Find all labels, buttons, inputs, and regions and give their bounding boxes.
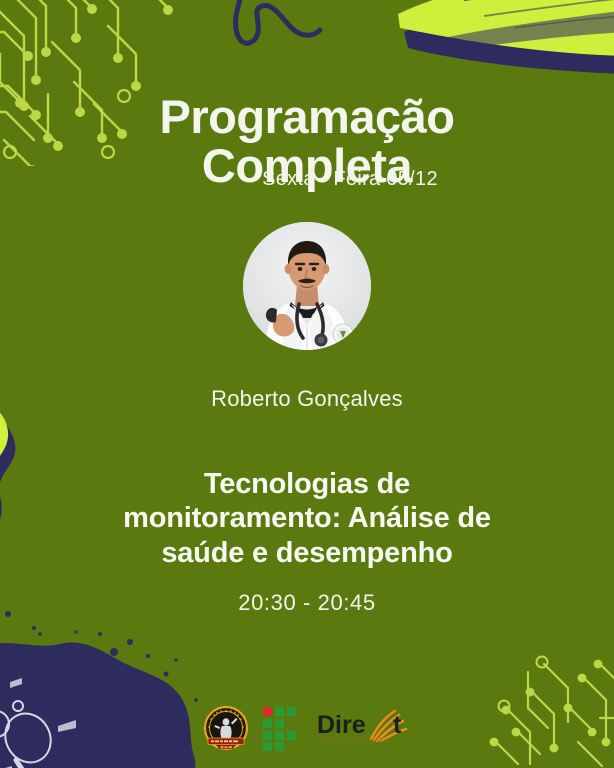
speaker-avatar [243, 222, 371, 350]
event-poster: Programação Completa Sexta - Feira 05/12 [0, 0, 614, 768]
footer-logos: Dire t Diretoria de Extensão [0, 700, 614, 756]
speaker-portrait-icon [243, 222, 371, 350]
if-institute-logo [263, 705, 301, 751]
talk-title: Tecnologias de monitoramento: Análise de… [42, 467, 572, 570]
dirext-subtitle: Diretoria de Extensão [321, 739, 387, 745]
event-date: Sexta - Feira 05/12 [0, 168, 614, 191]
dirext-label-tail: t [393, 711, 402, 739]
dirext-logo: Dire t Diretoria de Extensão [315, 705, 411, 751]
educacao-fisica-seal-logo [203, 705, 249, 751]
talk-time: 20:30 - 20:45 [0, 590, 614, 616]
speaker-name: Roberto Gonçalves [0, 386, 614, 412]
dirext-label: Dire [317, 711, 366, 739]
